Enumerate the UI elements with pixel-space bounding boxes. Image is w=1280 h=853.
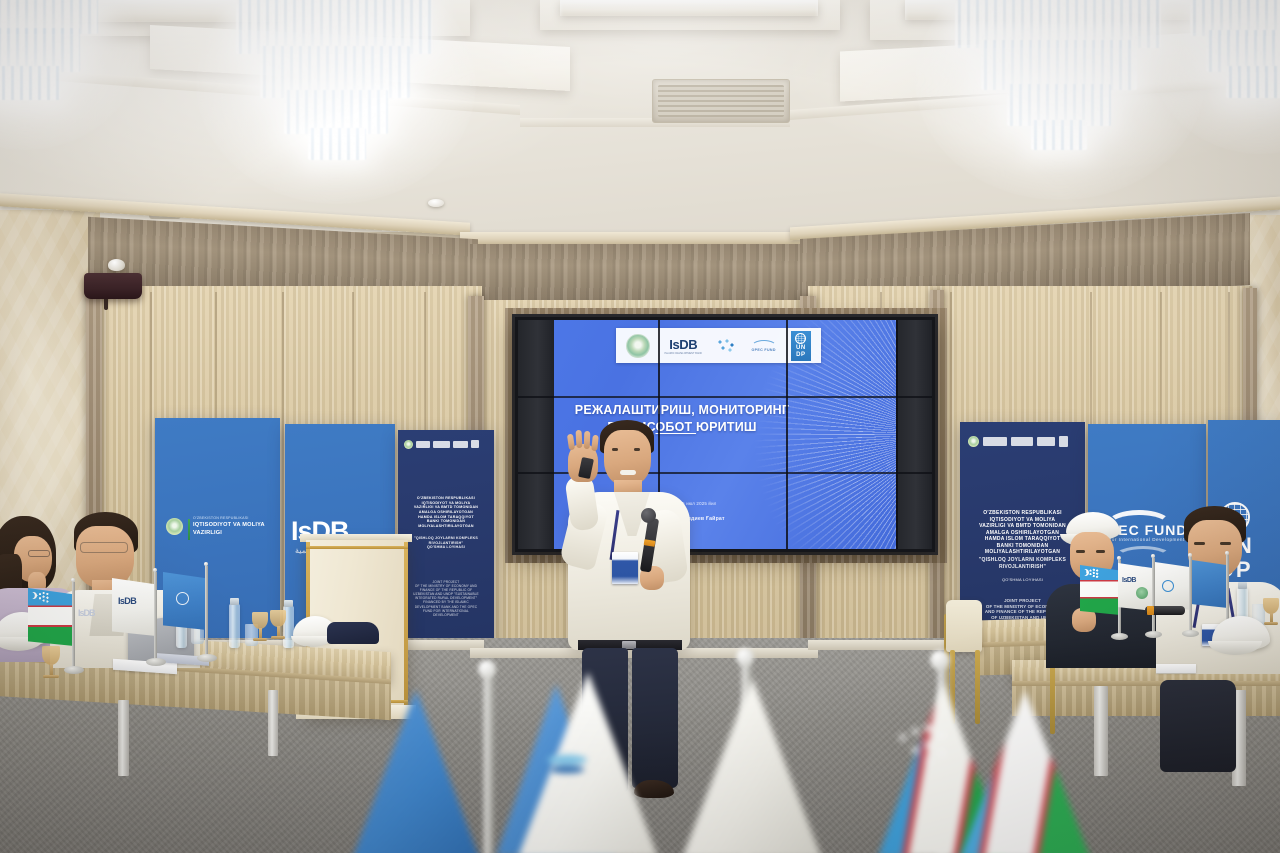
paper-sheet	[1156, 664, 1196, 673]
eye	[612, 448, 618, 451]
eyeglasses-icon	[28, 550, 50, 557]
water-bottle[interactable]	[229, 604, 240, 648]
eyeglasses-icon	[80, 542, 128, 553]
name-badge	[612, 552, 638, 584]
blue-flag	[352, 690, 480, 853]
podium-trim	[404, 542, 408, 714]
goblet-base	[1264, 622, 1278, 625]
slide-logo-bar: IsDB ISLAMIC DEVELOPMENT BANK OPEC FUND …	[616, 328, 821, 363]
jacket-logo: IsDB	[78, 608, 98, 634]
opec-fund-logo: OPEC FUND	[751, 340, 777, 352]
isdb-flag: IsDB	[112, 578, 156, 650]
finger	[584, 431, 591, 449]
uzbekistan-flag	[1080, 565, 1120, 627]
podium-trim	[306, 546, 408, 549]
goblet-base	[43, 675, 59, 678]
finger	[591, 435, 599, 452]
goblet-base	[271, 636, 285, 639]
eye	[634, 448, 640, 451]
video-wall-bezel	[786, 320, 788, 549]
video-wall-bezel	[896, 320, 898, 549]
emblem-logo	[626, 334, 650, 358]
flag-finial	[478, 660, 496, 678]
video-wall-bezel	[518, 320, 554, 549]
microphone-head	[641, 508, 656, 523]
banner-subhead: "QISHLOQ JOYLARNI KOMPLEKS RIVOJLANTIRIS…	[404, 536, 488, 550]
bottle-cap	[1238, 582, 1247, 589]
video-wall-bezel	[896, 320, 932, 549]
microphone-band	[1147, 606, 1154, 615]
undp-globe-icon	[176, 592, 189, 605]
undp-flag	[163, 572, 207, 646]
isdb-logo: IsDB ISLAMIC DEVELOPMENT BANK	[664, 337, 702, 355]
mouth	[620, 470, 636, 475]
finger	[576, 430, 583, 448]
smoke-detector-icon	[428, 199, 444, 207]
isdb-flag-logo: IsDB	[1122, 577, 1136, 584]
goblet-base	[253, 638, 267, 641]
flag-pole	[484, 672, 494, 853]
isdb-flag-logo: IsDB	[118, 596, 136, 606]
opec-flag	[1192, 560, 1228, 622]
bottle-cap	[230, 598, 239, 605]
bottle-cap	[284, 600, 293, 607]
panel-seam	[950, 292, 952, 632]
banner-english: JOINT PROJECT OF THE MINISTRY OF ECONOMY…	[404, 580, 488, 617]
conference-hall-photo: IsDB ISLAMIC DEVELOPMENT BANK OPEC FUND …	[0, 0, 1280, 853]
undp-globe-icon	[1162, 580, 1174, 592]
crystal-chandelier	[236, 0, 436, 194]
white-flag	[682, 678, 822, 853]
flag-emblem	[540, 744, 594, 788]
chair[interactable]	[946, 600, 982, 652]
banner-headline: O'ZBEKISTON RESPUBLIKASI IQTISODIYOT VA …	[404, 496, 488, 529]
wall-dark-band	[470, 244, 810, 306]
video-wall-bezel	[518, 396, 932, 398]
crystal-chandelier	[955, 0, 1165, 180]
finger	[567, 434, 575, 451]
air-vent-icon	[652, 79, 790, 123]
flag-finial	[930, 650, 950, 670]
undp-globe-icon	[795, 333, 806, 344]
uzbekistan-flag	[28, 588, 74, 658]
undp-logo: UN DP	[791, 331, 811, 361]
panel-seam	[282, 292, 284, 632]
banner-logo-row	[404, 438, 488, 450]
isdb-dots-icon	[716, 338, 736, 354]
folded-garment	[327, 622, 379, 644]
banner-logo-row	[968, 434, 1078, 448]
flag-finial	[736, 648, 754, 666]
uzbekistan-flag-foreground	[960, 690, 1090, 853]
table-leg	[268, 690, 278, 756]
table-leg	[118, 700, 129, 776]
ceiling-recess	[560, 0, 818, 16]
crystal-chandelier	[0, 0, 100, 130]
crystal-chandelier	[1190, 0, 1280, 134]
bag	[1160, 680, 1236, 772]
table-leg	[1094, 686, 1108, 776]
dome-camera-icon[interactable]	[108, 259, 125, 271]
isdb-flag: IsDB	[1118, 563, 1154, 625]
ceiling-speaker	[84, 273, 142, 299]
